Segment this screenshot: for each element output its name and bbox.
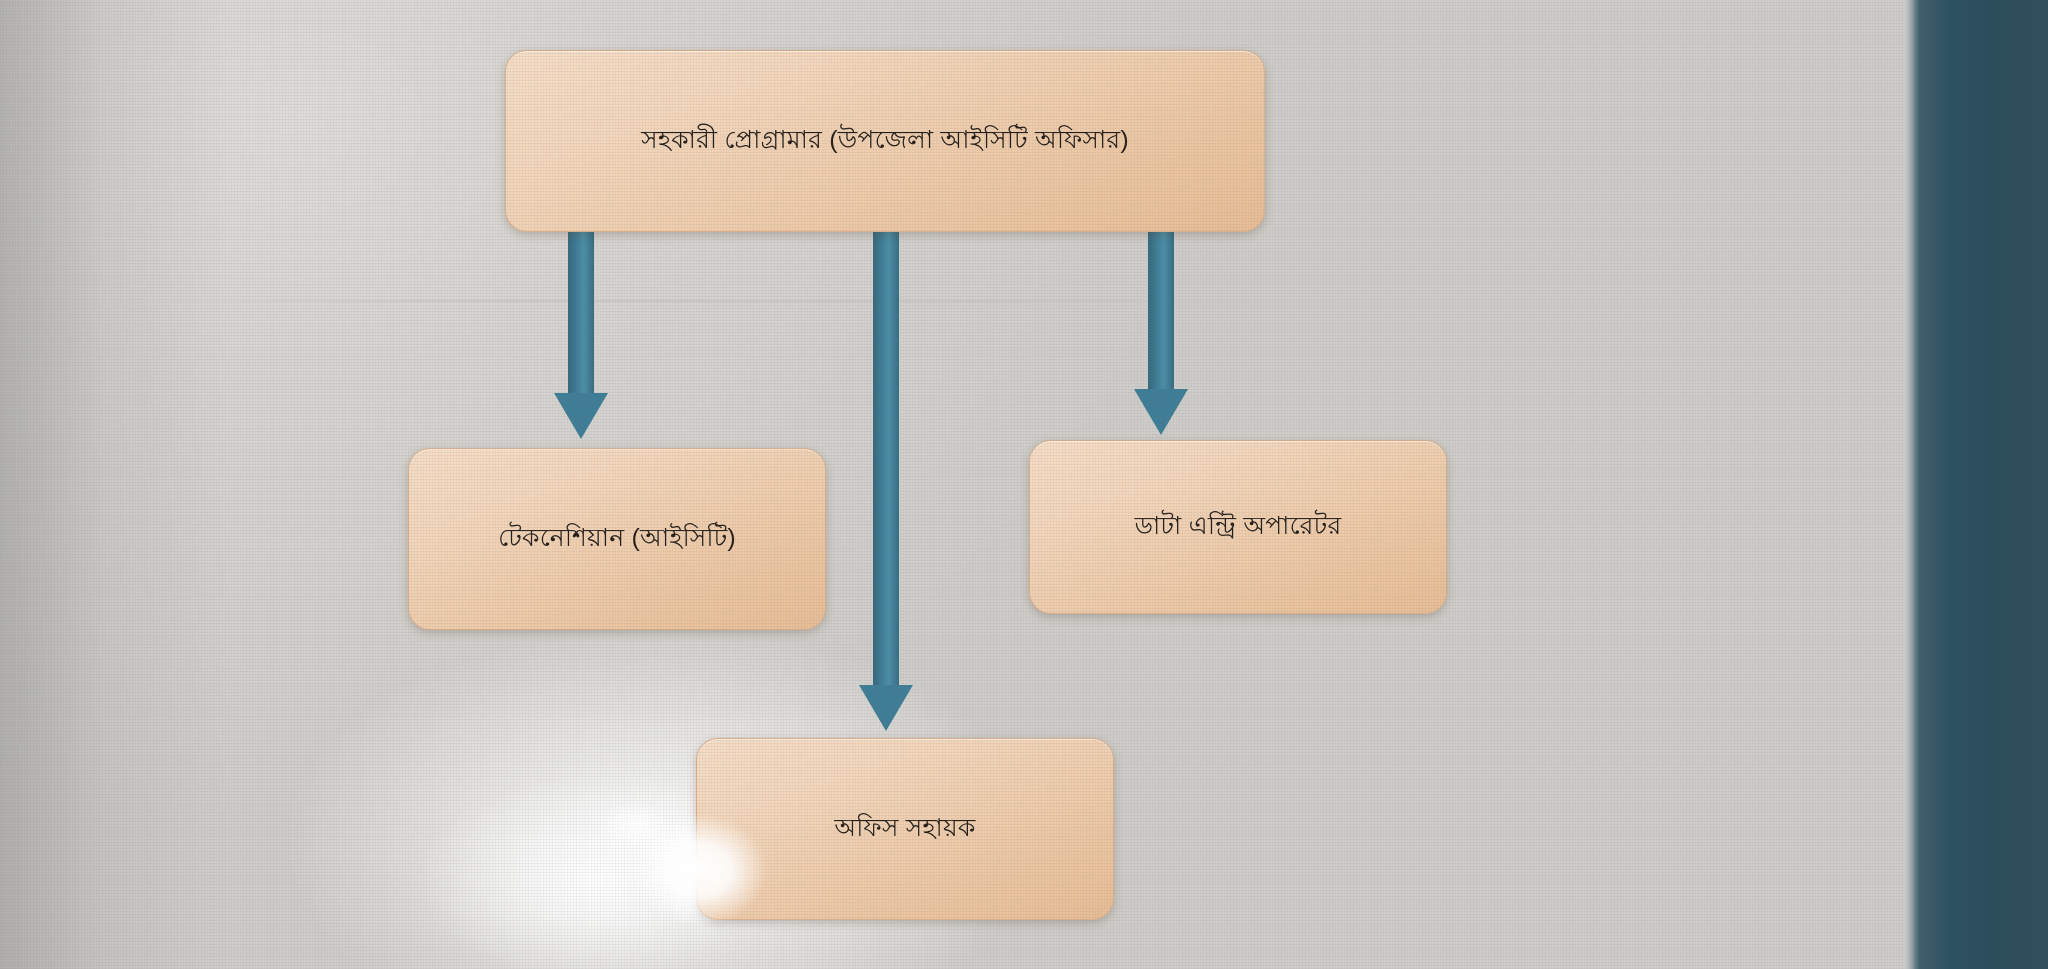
connector-to-office-arrow [873, 225, 899, 735]
node-assistant-programmer[interactable]: সহকারী প্রোগ্রামার (উপজেলা আইসিটি অফিসার… [505, 50, 1265, 232]
node-data-entry-operator[interactable]: ডাটা এন্ট্রি অপারেটর [1029, 440, 1447, 614]
node-label: সহকারী প্রোগ্রামার (উপজেলা আইসিটি অফিসার… [625, 125, 1145, 156]
connector-to-data-entry-arrow [1148, 225, 1174, 437]
screenshot-canvas: সহকারী প্রোগ্রামার (উপজেলা আইসিটি অফিসার… [0, 0, 2048, 969]
monitor-bezel-right [1905, 0, 2048, 969]
arrow-shaft [568, 225, 594, 395]
arrow-head-icon [859, 685, 913, 731]
arrow-shaft [873, 225, 899, 687]
node-office-assistant[interactable]: অফিস সহায়ক [696, 738, 1114, 920]
node-label: টেকনেশিয়ান (আইসিটি) [482, 523, 752, 554]
arrow-head-icon [554, 393, 608, 439]
node-technician-ict[interactable]: টেকনেশিয়ান (আইসিটি) [408, 448, 826, 630]
arrow-shaft [1148, 225, 1174, 391]
node-label: ডাটা এন্ট্রি অপারেটর [1119, 511, 1358, 542]
connector-to-technician-arrow [568, 225, 594, 440]
arrow-head-icon [1134, 389, 1188, 435]
node-label: অফিস সহায়ক [818, 813, 991, 844]
